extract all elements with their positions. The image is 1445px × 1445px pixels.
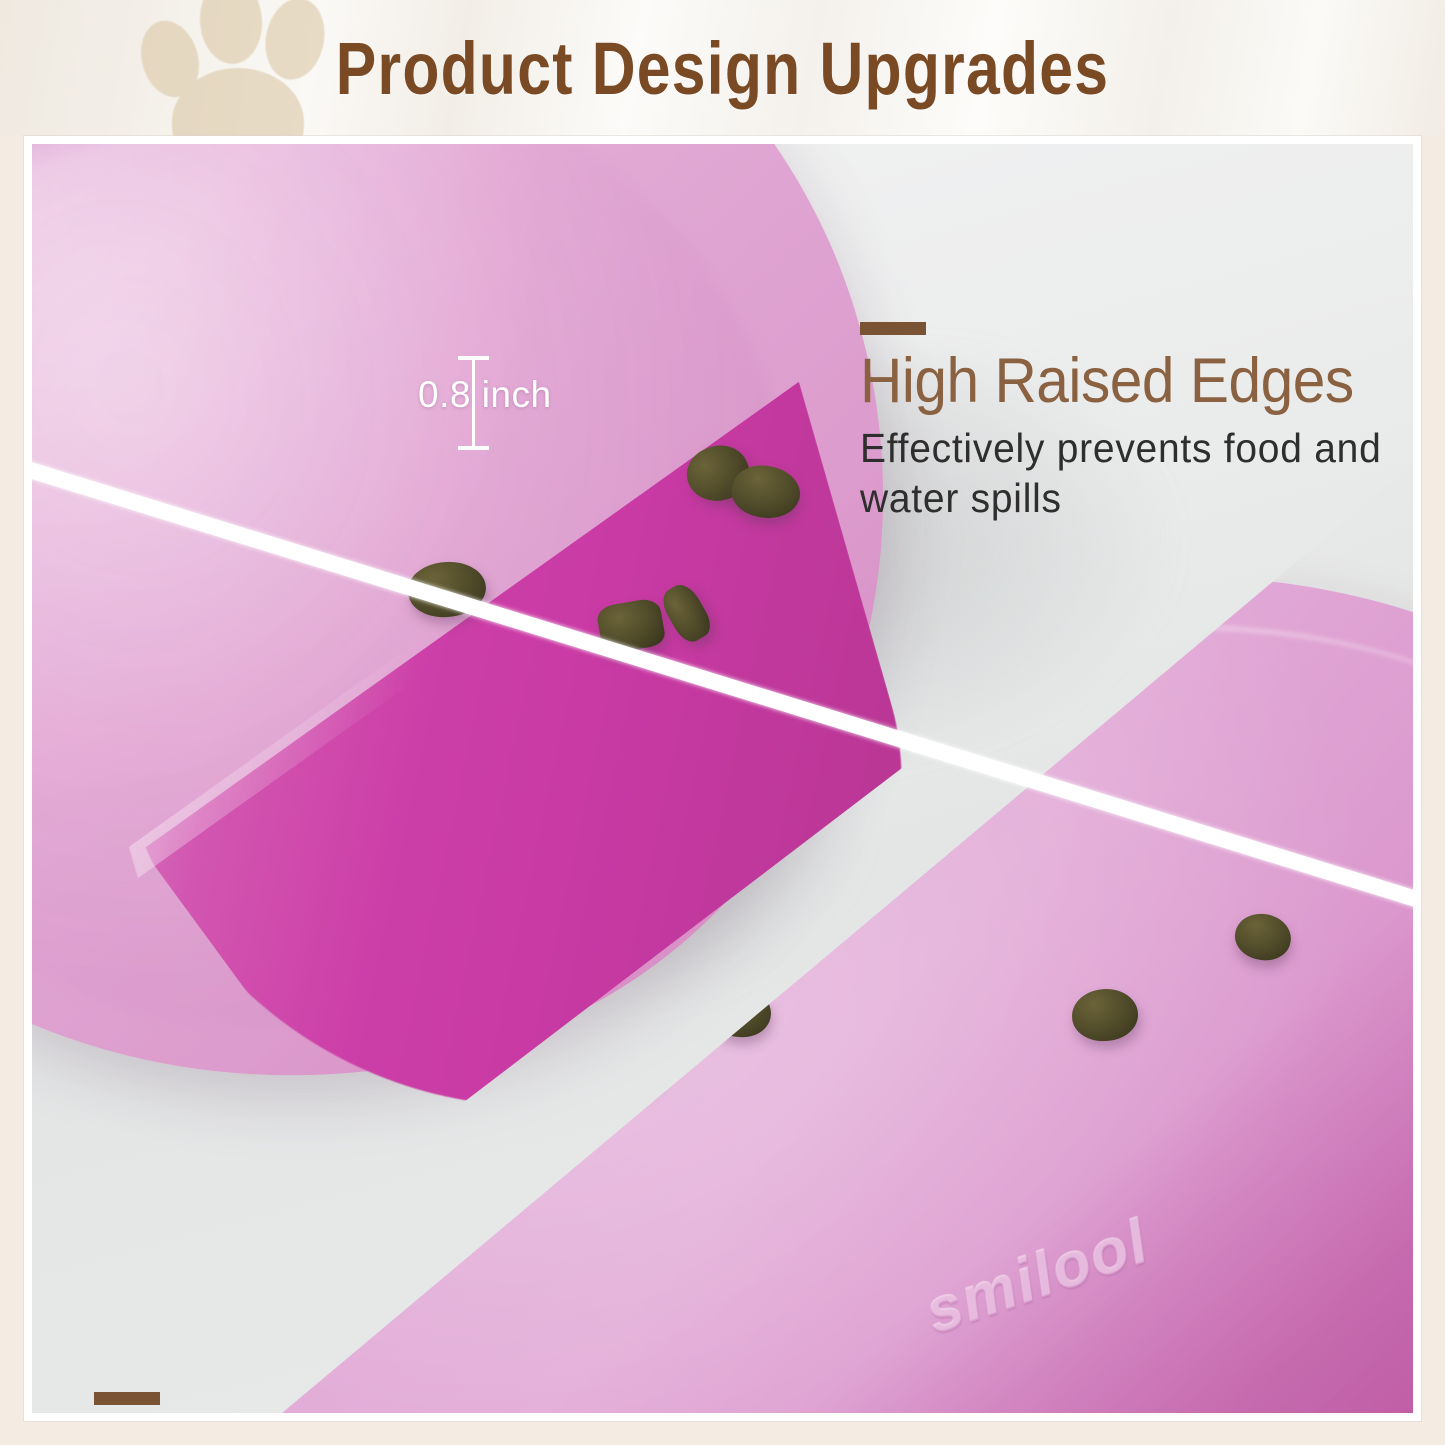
dimension-callout: 0.8 inch [440,344,620,454]
dimension-cap-bottom [458,446,489,450]
header-banner: Product Design Upgrades [0,0,1445,136]
page-title: Product Design Upgrades [130,0,1315,136]
product-image-frame: 0.8 inch smilool High Raised Edges Effec… [24,136,1421,1421]
caption-title: High Raised Edges [860,349,1381,415]
caption-subtitle: Effectively prevents food and water spil… [860,423,1392,523]
product-photo: 0.8 inch smilool High Raised Edges Effec… [32,144,1413,1413]
caption-high-raised-edges: High Raised Edges Effectively prevents f… [860,322,1413,523]
caption-accent-dash [94,1392,160,1405]
caption-keeping-floor-clean: Keeping the floor clean Minimizes time s… [94,1392,1214,1413]
dimension-label: 0.8 inch [418,374,552,416]
caption-accent-dash [860,322,926,335]
